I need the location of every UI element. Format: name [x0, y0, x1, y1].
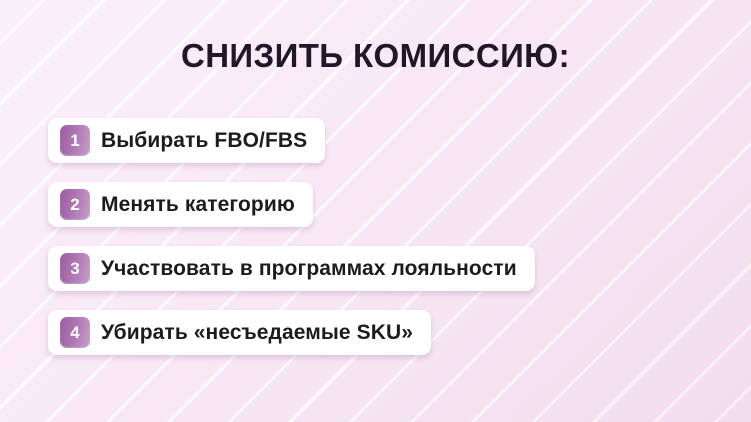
- list-item-label: Участвовать в программах лояльности: [101, 257, 517, 281]
- list-item[interactable]: 1 Выбирать FBO/FBS: [48, 118, 325, 163]
- page-title: СНИЗИТЬ КОМИССИЮ:: [0, 36, 751, 76]
- slide-canvas: СНИЗИТЬ КОМИССИЮ: 1 Выбирать FBO/FBS 2 М…: [0, 0, 751, 422]
- list-item-number-badge: 1: [60, 125, 90, 156]
- numbered-list: 1 Выбирать FBO/FBS 2 Менять категорию 3 …: [48, 118, 535, 374]
- list-item-number-badge: 3: [60, 253, 90, 284]
- list-item-label: Выбирать FBO/FBS: [101, 129, 307, 153]
- list-item-label: Убирать «несъедаемые SKU»: [101, 321, 413, 345]
- list-item[interactable]: 4 Убирать «несъедаемые SKU»: [48, 310, 431, 355]
- list-item-number-badge: 4: [60, 317, 90, 348]
- list-item[interactable]: 2 Менять категорию: [48, 182, 313, 227]
- list-item[interactable]: 3 Участвовать в программах лояльности: [48, 246, 535, 291]
- list-item-number-badge: 2: [60, 189, 90, 220]
- list-item-label: Менять категорию: [101, 193, 295, 217]
